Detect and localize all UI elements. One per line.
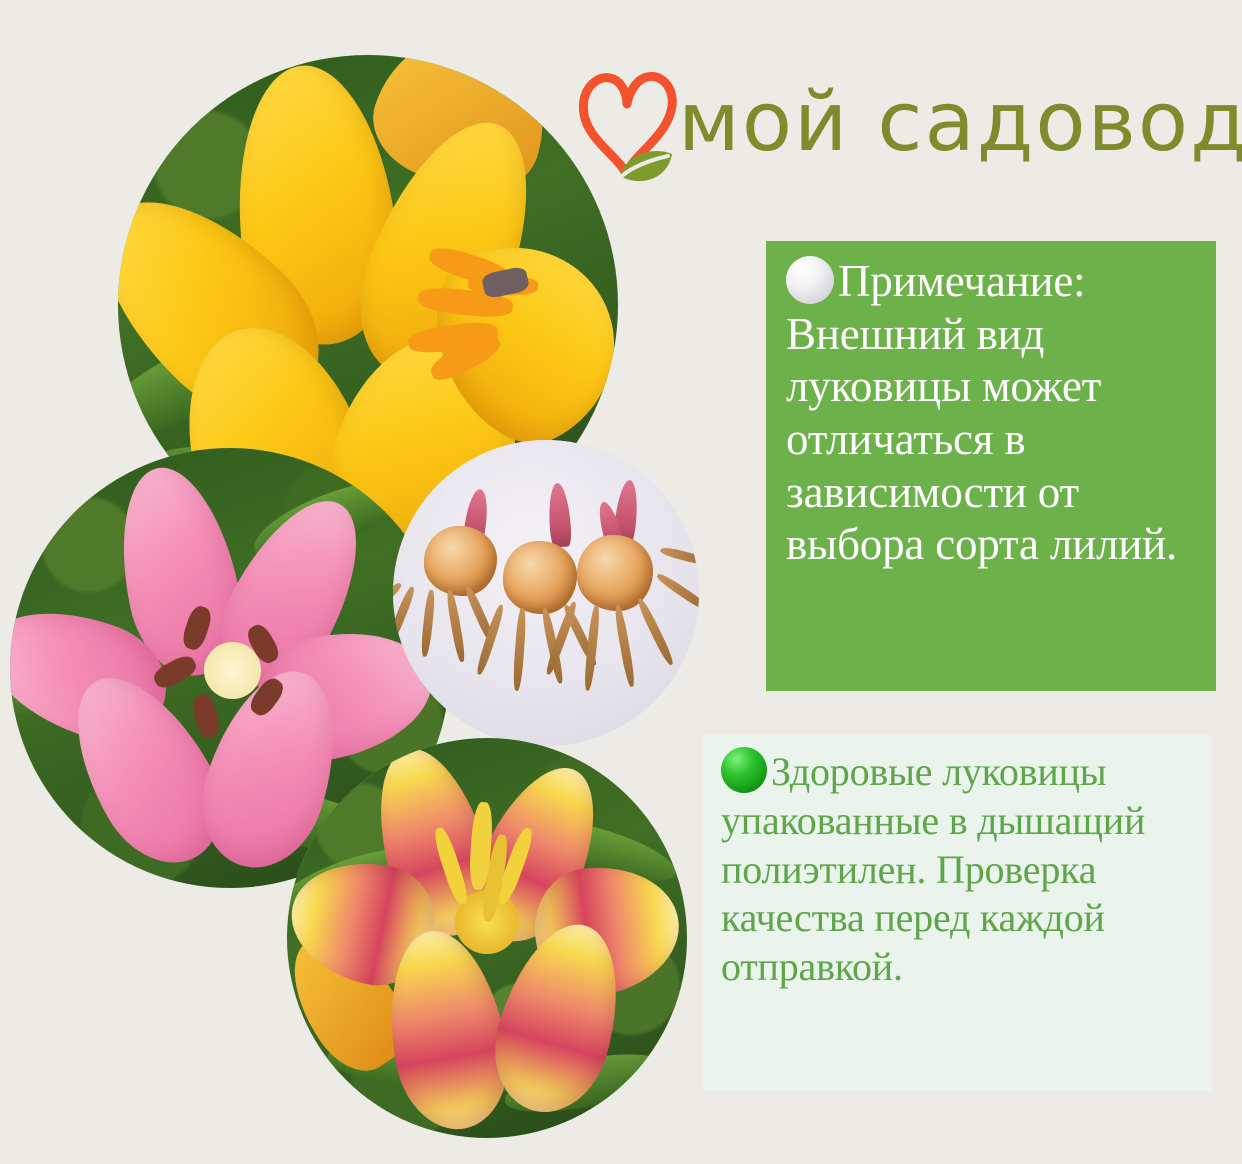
note-panel: Примечание: Внешний вид луковицы может о… <box>766 241 1216 691</box>
photo-lily-bulbs <box>393 440 699 746</box>
healthy-body: Здоровые луковицы упакованные в дышащий … <box>721 749 1145 989</box>
brand-name: мой садовод <box>678 82 1242 164</box>
white-circle-bullet-icon <box>786 256 834 304</box>
healthy-bulbs-panel-text: Здоровые луковицы упакованные в дышащий … <box>721 747 1196 992</box>
photo-bicolor-lily <box>287 738 687 1138</box>
note-heading: Примечание: <box>838 256 1085 306</box>
green-circle-bullet-icon <box>721 747 767 793</box>
note-body: Внешний вид луковицы может отличаться в … <box>786 309 1177 570</box>
page-canvas: мой садовод <box>0 0 1242 1164</box>
photo-collage <box>0 0 740 1164</box>
note-panel-text: Примечание: Внешний вид луковицы может о… <box>786 255 1198 571</box>
healthy-bulbs-panel: Здоровые луковицы упакованные в дышащий … <box>703 735 1212 1091</box>
